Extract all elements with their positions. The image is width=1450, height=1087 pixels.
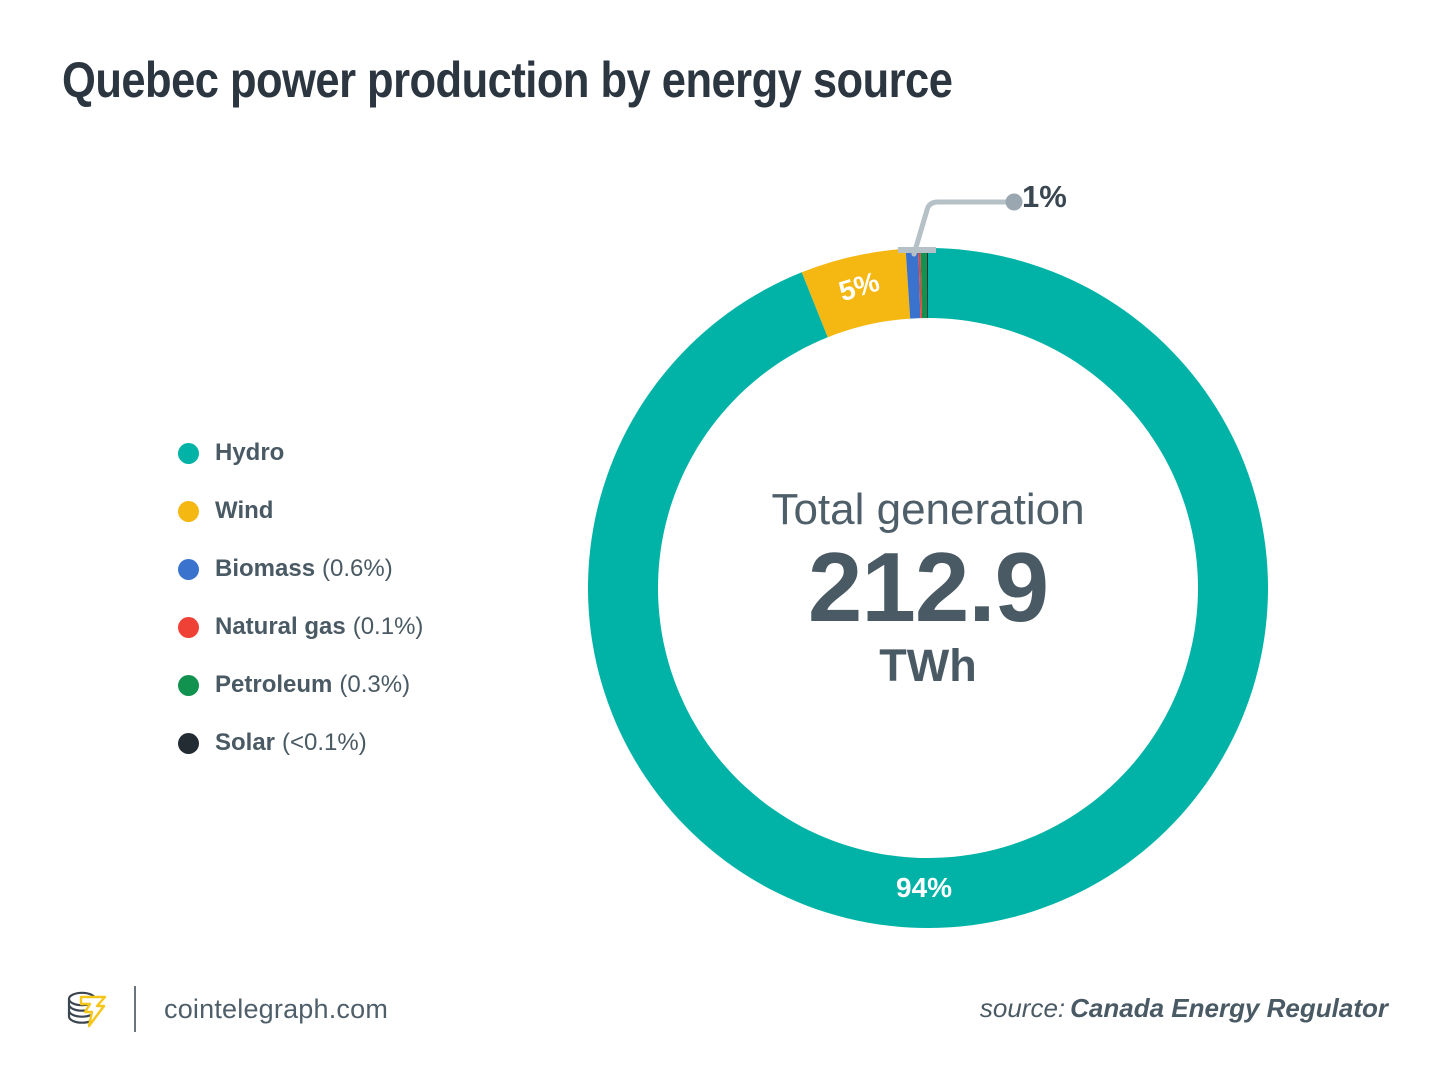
brand-block[interactable]: cointelegraph.com: [62, 985, 388, 1033]
legend-swatch-icon: [178, 617, 199, 638]
source-attribution: source:Canada Energy Regulator: [980, 993, 1388, 1024]
legend-percent: (<0.1%): [282, 729, 367, 757]
legend-item-hydro[interactable]: Hydro: [178, 424, 423, 482]
callout-path-icon: [914, 202, 1012, 254]
legend-label: Solar: [215, 729, 275, 757]
legend-percent: (0.3%): [339, 671, 410, 699]
source-name: Canada Energy Regulator: [1070, 993, 1388, 1023]
brand-url[interactable]: cointelegraph.com: [164, 994, 388, 1025]
legend-label: Petroleum: [215, 671, 332, 699]
callout-label: 1%: [1022, 179, 1067, 215]
legend-percent: (0.6%): [322, 555, 393, 583]
legend-label: Hydro: [215, 439, 284, 467]
legend-swatch-icon: [178, 559, 199, 580]
legend-item-biomass[interactable]: Biomass (0.6%): [178, 540, 423, 598]
chart-legend: Hydro Wind Biomass (0.6%) Natural gas (0…: [178, 424, 423, 772]
legend-item-wind[interactable]: Wind: [178, 482, 423, 540]
donut-slice-hydro[interactable]: [588, 248, 1268, 928]
legend-item-natural-gas[interactable]: Natural gas (0.1%): [178, 598, 423, 656]
legend-swatch-icon: [178, 443, 199, 464]
legend-label: Natural gas: [215, 613, 346, 641]
slice-label-hydro: 94%: [896, 872, 952, 904]
legend-label: Wind: [215, 497, 273, 525]
legend-swatch-icon: [178, 733, 199, 754]
legend-label: Biomass: [215, 555, 315, 583]
donut-svg: [588, 248, 1268, 928]
page-footer: cointelegraph.com source:Canada Energy R…: [0, 967, 1450, 1087]
cointelegraph-logo-icon: [62, 985, 110, 1033]
callout-leader-line: [890, 180, 1025, 258]
legend-percent: (0.1%): [353, 613, 424, 641]
infographic-page: Quebec power production by energy source…: [0, 0, 1450, 1087]
callout-dot-icon: [1006, 194, 1023, 211]
donut-chart: [588, 248, 1268, 928]
source-prefix: source:: [980, 993, 1065, 1023]
legend-item-petroleum[interactable]: Petroleum (0.3%): [178, 656, 423, 714]
legend-item-solar[interactable]: Solar (<0.1%): [178, 714, 423, 772]
legend-swatch-icon: [178, 675, 199, 696]
legend-swatch-icon: [178, 501, 199, 522]
brand-divider: [134, 986, 136, 1032]
page-title: Quebec power production by energy source: [62, 51, 952, 109]
